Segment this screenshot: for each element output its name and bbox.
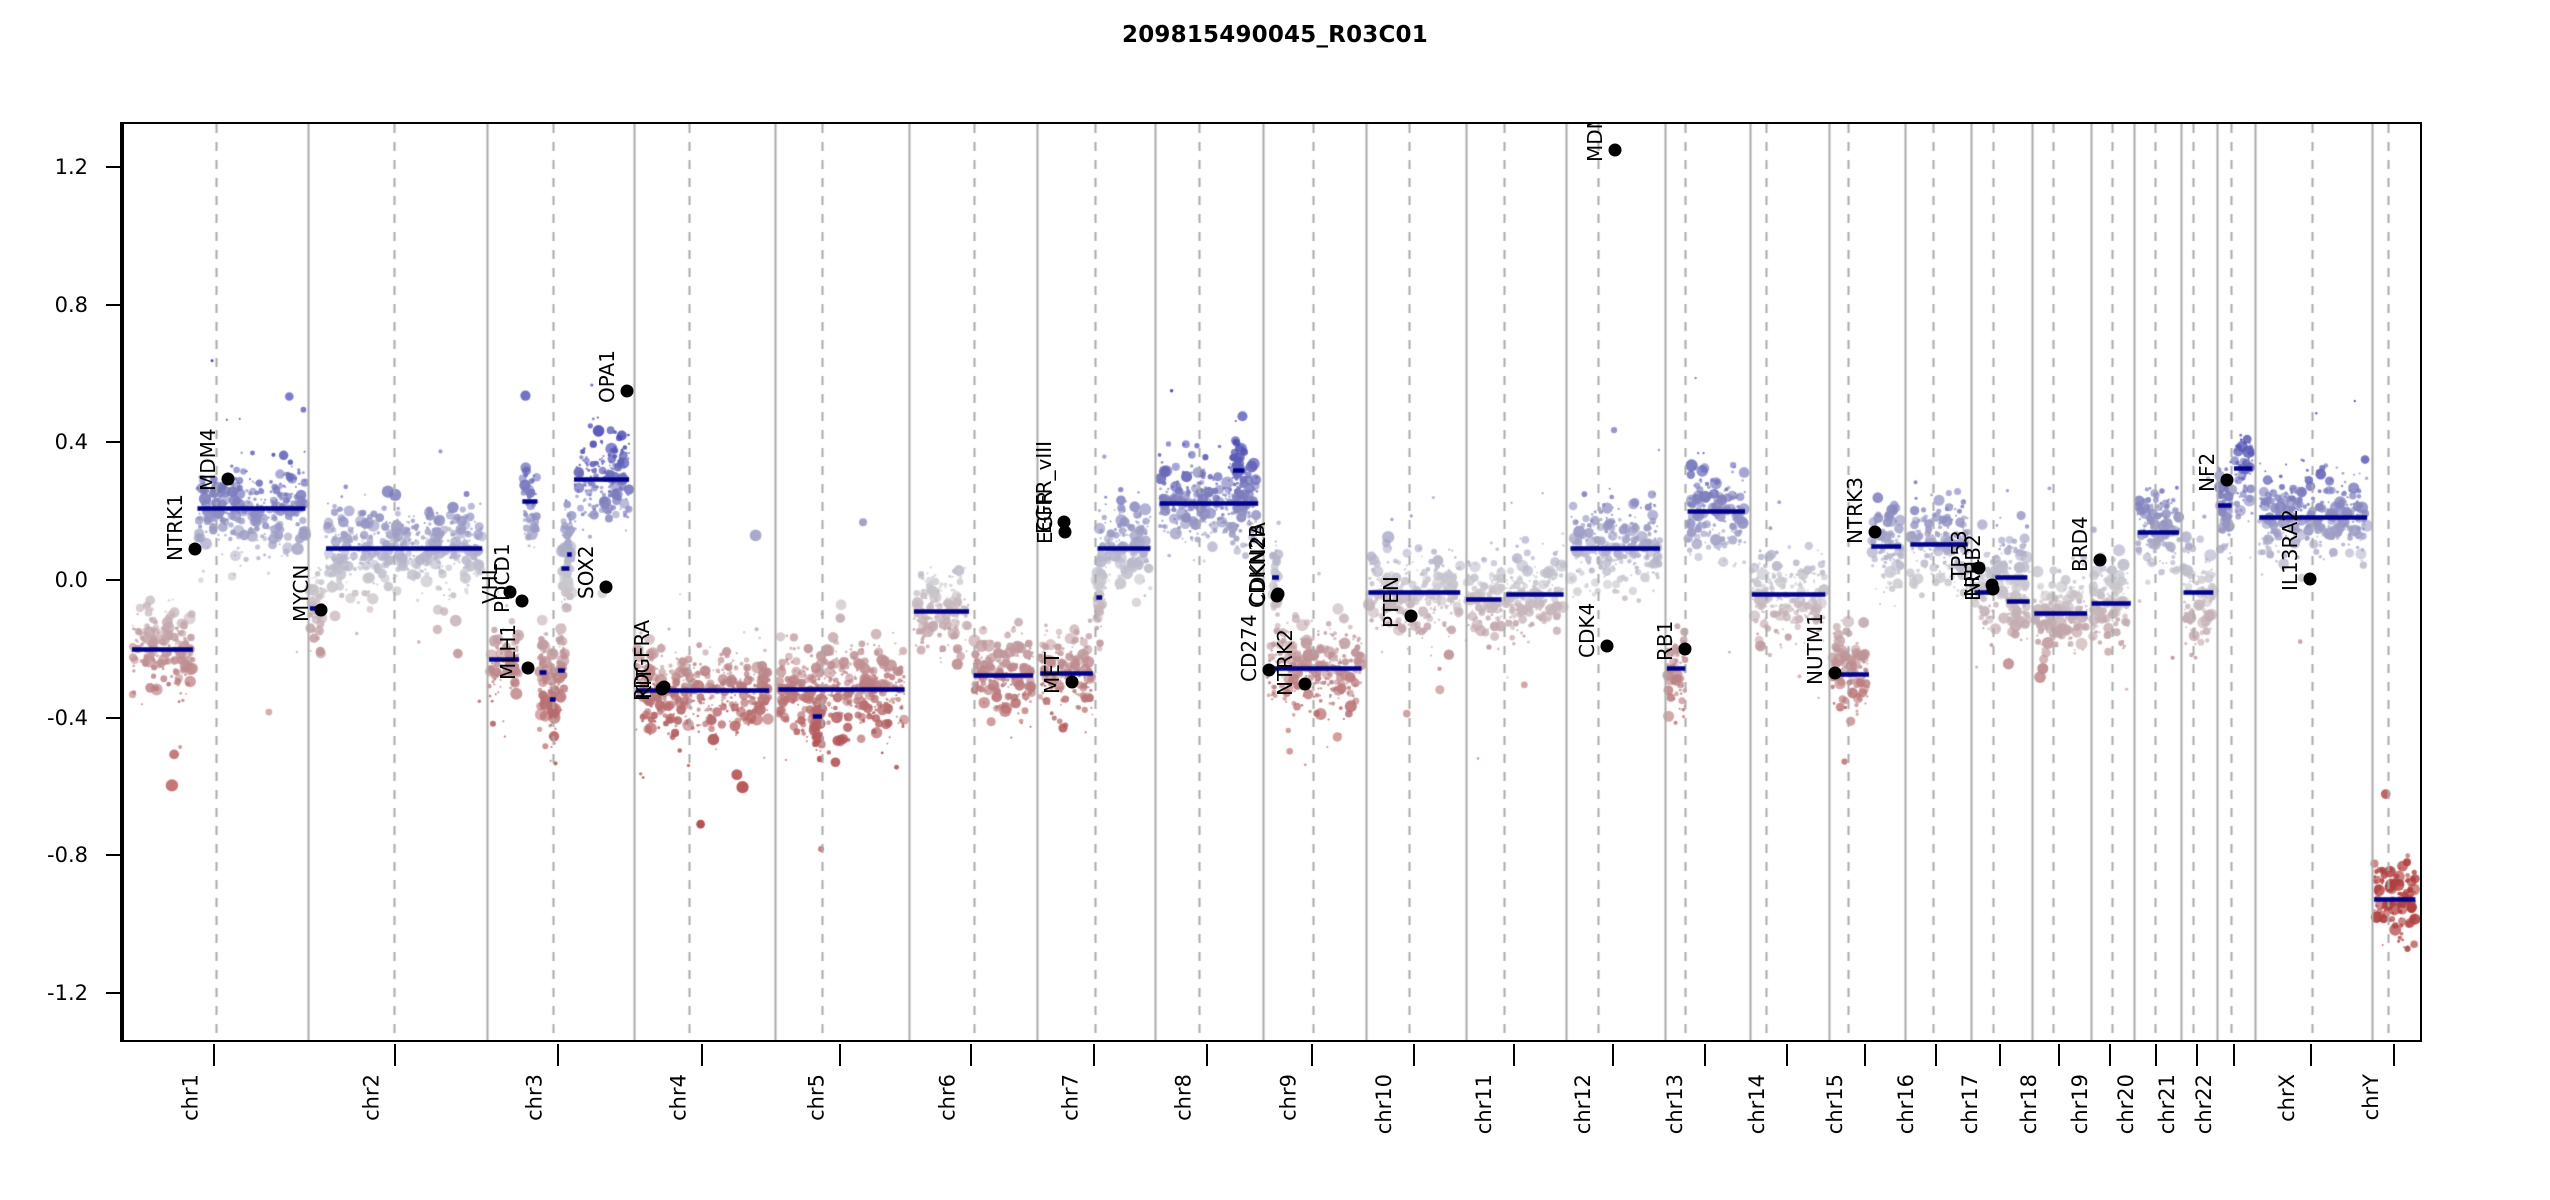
y-tick-mark: [106, 992, 122, 994]
x-tick-label-chrX: chrX: [2287, 1026, 2311, 1074]
plot-area: NTRK1MDM4MYCNPDCD1VHLMLH1SOX2OPA1PDGFRAK…: [122, 122, 2422, 1042]
x-tick-label-chrY: chrY: [2371, 1028, 2395, 1074]
x-tick-mark-chr21: [2196, 1044, 2198, 1066]
y-tick-mark: [106, 717, 122, 719]
y-tick-label: 0.8: [55, 293, 88, 317]
x-tick-label-chr9: chr9: [1289, 1027, 1313, 1074]
x-tick-label-chr13: chr13: [1675, 1014, 1699, 1074]
x-tick-mark-chr22: [2233, 1044, 2235, 1066]
y-tick-label: 0.0: [55, 568, 88, 592]
chromosome-label: chr16: [1894, 1074, 1918, 1134]
chromosome-label: chr19: [2068, 1074, 2092, 1134]
chromosome-label: chrY: [2359, 1074, 2383, 1120]
y-tick-mark: [106, 441, 122, 443]
x-tick-label-chr14: chr14: [1757, 1014, 1781, 1074]
chromosome-label: chr22: [2192, 1074, 2216, 1134]
x-tick-mark-chr20: [2155, 1044, 2157, 1066]
x-tick-label-chr19: chr19: [2080, 1014, 2104, 1074]
page-title: 209815490045_R03C01: [0, 22, 2550, 48]
y-tick-label: 0.4: [55, 430, 88, 454]
chromosome-label: chr4: [667, 1074, 691, 1121]
chromosome-label: chr3: [523, 1074, 547, 1121]
chromosome-label: chr18: [2017, 1074, 2041, 1134]
chromosome-label: chr20: [2114, 1074, 2138, 1134]
x-tick-mark-chr13: [1704, 1044, 1706, 1066]
x-tick-label-chr5: chr5: [817, 1027, 841, 1074]
x-tick-mark-chr14: [1786, 1044, 1788, 1066]
x-tick-label-chr8: chr8: [1183, 1027, 1207, 1074]
chromosome-label: chr15: [1823, 1074, 1847, 1134]
x-tick-label-chr17: chr17: [1969, 1014, 1993, 1074]
chromosome-label: chr10: [1372, 1074, 1396, 1134]
x-tick-label-chr6: chr6: [948, 1027, 972, 1074]
chromosome-label: chr7: [1058, 1074, 1082, 1121]
cnv-plot-page: 209815490045_R03C01 1.20.80.40.0-0.4-0.8…: [0, 0, 2550, 1200]
chromosome-label: chr2: [360, 1074, 384, 1121]
chromosome-label: chr17: [1957, 1074, 1981, 1134]
x-tick-label-chr11: chr11: [1484, 1014, 1508, 1074]
x-tick-mark-chr16: [1935, 1044, 1937, 1066]
x-tick-mark-chr17: [1999, 1044, 2001, 1066]
x-tick-mark-chr19: [2109, 1044, 2111, 1066]
cnv-scatter-canvas: [124, 124, 2420, 1040]
y-axis: 1.20.80.40.0-0.4-0.8-1.2: [0, 122, 122, 1042]
y-tick-label: -0.4: [47, 706, 88, 730]
chromosome-label: chrX: [2275, 1074, 2299, 1122]
chromosome-label: chr8: [1171, 1074, 1195, 1121]
y-tick-label: 1.2: [55, 155, 88, 179]
x-axis: chr1chr2chr3chr4chr5chr6chr7chr8chr9chr1…: [122, 1044, 2422, 1200]
x-tick-label-chr21: chr21: [2167, 1014, 2191, 1074]
x-tick-label-chr4: chr4: [679, 1027, 703, 1074]
y-tick-label: -1.2: [47, 981, 88, 1005]
x-tick-mark-chr15: [1864, 1044, 1866, 1066]
x-tick-mark-chr11: [1513, 1044, 1515, 1066]
x-tick-label-chr18: chr18: [2029, 1014, 2053, 1074]
chromosome-label: chr21: [2155, 1074, 2179, 1134]
chromosome-label: chr6: [936, 1074, 960, 1121]
y-tick-mark: [106, 854, 122, 856]
y-tick-mark: [106, 166, 122, 168]
x-tick-label-chr12: chr12: [1583, 1014, 1607, 1074]
chromosome-label: chr5: [805, 1074, 829, 1121]
chromosome-label: chr1: [178, 1074, 202, 1121]
x-tick-mark-chr18: [2058, 1044, 2060, 1066]
x-tick-label-chr10: chr10: [1384, 1014, 1408, 1074]
chromosome-label: chr13: [1663, 1074, 1687, 1134]
x-tick-mark-chr12: [1612, 1044, 1614, 1066]
x-tick-label-chr7: chr7: [1070, 1027, 1094, 1074]
x-tick-label-chr15: chr15: [1835, 1014, 1859, 1074]
x-tick-label-chr1: chr1: [190, 1027, 214, 1074]
x-tick-label-chr2: chr2: [372, 1027, 396, 1074]
y-tick-mark: [106, 304, 122, 306]
chromosome-label: chr11: [1472, 1074, 1496, 1134]
chromosome-label: chr14: [1745, 1074, 1769, 1134]
chromosome-label: chr9: [1277, 1074, 1301, 1121]
y-tick-mark: [106, 579, 122, 581]
x-tick-label-chr16: chr16: [1906, 1014, 1930, 1074]
chromosome-label: chr12: [1571, 1074, 1595, 1134]
x-tick-label-chr20: chr20: [2126, 1014, 2150, 1074]
x-tick-label-chr3: chr3: [535, 1027, 559, 1074]
x-tick-label-chr22: chr22: [2204, 1014, 2228, 1074]
x-tick-mark-chr10: [1413, 1044, 1415, 1066]
y-tick-label: -0.8: [47, 843, 88, 867]
